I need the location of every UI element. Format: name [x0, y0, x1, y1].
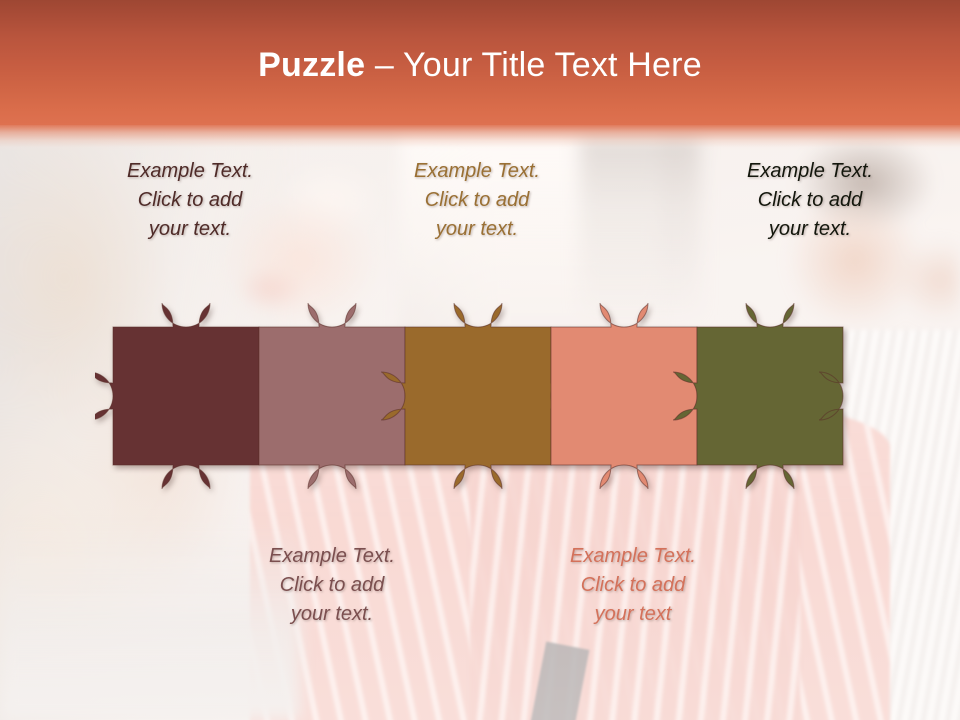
puzzle-piece-ochre[interactable] [381, 303, 575, 489]
slide-canvas: Puzzle – Your Title Text Here Example Te… [0, 0, 960, 720]
puzzle-piece-maroon[interactable] [95, 303, 283, 489]
background-tag [531, 642, 590, 720]
puzzle-graphic [95, 272, 865, 522]
page-title-rest: – Your Title Text Here [365, 46, 702, 84]
puzzle-piece-salmon[interactable] [551, 303, 697, 489]
text-placeholder-bottom-left[interactable]: Example Text. Click to add your text. [222, 542, 442, 629]
puzzle-piece-olive[interactable] [673, 303, 843, 489]
puzzle-piece-mauve[interactable] [259, 303, 405, 489]
text-placeholder-top-center[interactable]: Example Text. Click to add your text. [367, 157, 587, 244]
text-placeholder-top-right[interactable]: Example Text. Click to add your text. [700, 157, 920, 244]
page-title-strong: Puzzle [258, 46, 365, 84]
text-placeholder-top-left[interactable]: Example Text. Click to add your text. [80, 157, 300, 244]
page-title[interactable]: Puzzle – Your Title Text Here [0, 44, 960, 86]
title-band-fade [0, 125, 960, 151]
text-placeholder-bottom-right[interactable]: Example Text. Click to add your text [523, 542, 743, 629]
